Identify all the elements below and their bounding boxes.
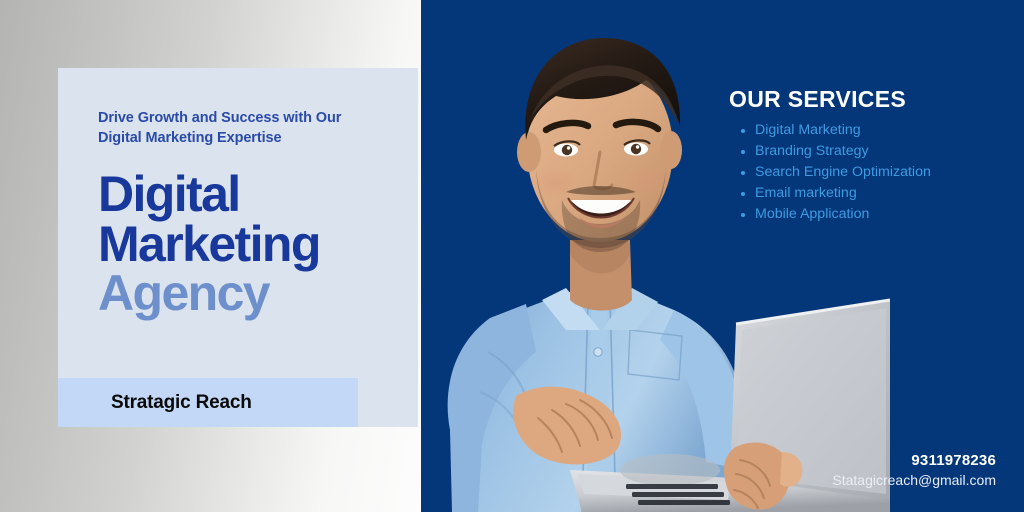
headline-line-3: Agency (98, 269, 408, 319)
services-block: OUR SERVICES Digital Marketing Branding … (729, 86, 1019, 225)
bullet-icon (741, 150, 745, 154)
headline-card: Drive Growth and Success with Our Digita… (58, 68, 418, 427)
bullet-icon (741, 192, 745, 196)
service-label: Digital Marketing (755, 122, 861, 138)
bullet-icon (741, 213, 745, 217)
tagline: Drive Growth and Success with Our Digita… (98, 108, 408, 148)
brand-name: Stratagic Reach (111, 392, 252, 414)
services-title: OUR SERVICES (729, 86, 1019, 113)
contact-email[interactable]: Statagicreach@gmail.com (832, 472, 996, 488)
contact-phone[interactable]: 9311978236 (832, 452, 996, 469)
marketing-banner: Drive Growth and Success with Our Digita… (0, 0, 1024, 512)
bullet-icon (741, 171, 745, 175)
list-item: Email marketing (729, 183, 1019, 204)
page-title: Digital Marketing Agency (98, 170, 408, 319)
bullet-icon (741, 129, 745, 133)
service-label: Mobile Application (755, 206, 869, 222)
service-label: Email marketing (755, 185, 857, 201)
list-item: Branding Strategy (729, 141, 1019, 162)
headline-line-1: Digital (98, 170, 408, 220)
brand-bar: Stratagic Reach (58, 378, 358, 427)
services-list: Digital Marketing Branding Strategy Sear… (729, 120, 1019, 225)
service-label: Search Engine Optimization (755, 164, 931, 180)
service-label: Branding Strategy (755, 143, 869, 159)
list-item: Digital Marketing (729, 120, 1019, 141)
list-item: Search Engine Optimization (729, 162, 1019, 183)
headline-line-2: Marketing (98, 220, 408, 270)
contact-block: 9311978236 Statagicreach@gmail.com (832, 452, 996, 488)
list-item: Mobile Application (729, 204, 1019, 225)
